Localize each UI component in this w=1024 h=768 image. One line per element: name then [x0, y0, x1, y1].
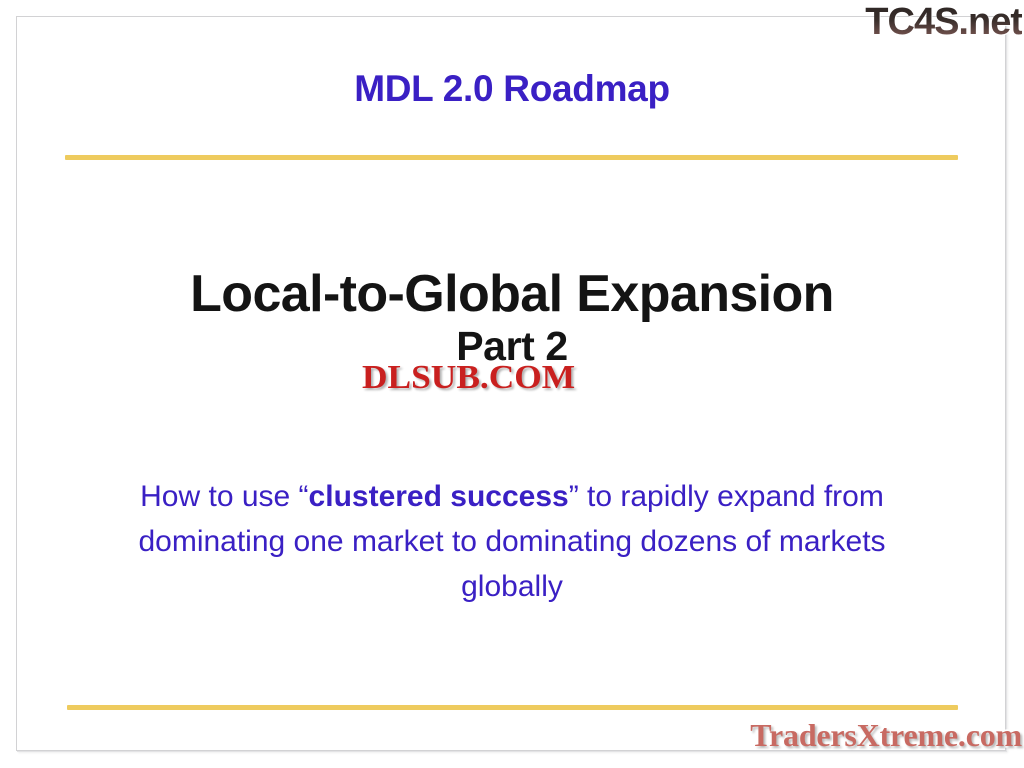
body-text-emphasis: clustered success [309, 480, 569, 513]
headline-block: Local-to-Global Expansion Part 2 [0, 266, 1024, 370]
body-paragraph: How to use “clustered success” to rapidl… [132, 474, 892, 609]
watermark-center: DLSUB.COM [362, 359, 575, 397]
headline-main: Local-to-Global Expansion [0, 266, 1024, 322]
divider-rule-bottom [67, 705, 958, 710]
body-text-segment-1: How to use “ [140, 480, 308, 513]
watermark-top-right: TC4S.net [865, 1, 1022, 44]
watermark-bottom-right: TradersXtreme.com [750, 717, 1022, 754]
slide-title: MDL 2.0 Roadmap [0, 68, 1024, 110]
divider-rule-top [65, 155, 958, 160]
